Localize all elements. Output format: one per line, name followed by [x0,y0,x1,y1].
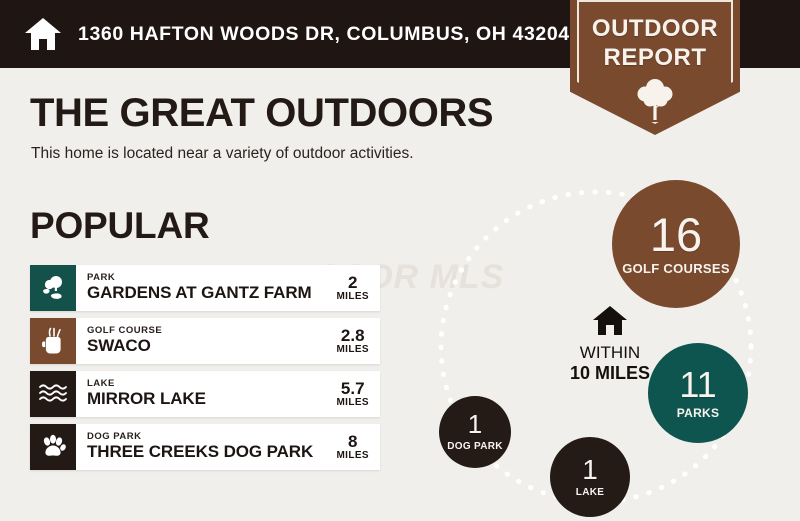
home-icon [24,17,62,51]
tree-icon [635,77,675,121]
list-item-category: DOG PARK [87,432,336,442]
list-item-category: GOLF COURSE [87,326,336,336]
list-item-text: LAKE MIRROR LAKE [76,379,336,409]
list-item-text: DOG PARK THREE CREEKS DOG PARK [76,432,336,462]
list-item-distance-unit: MILES [336,397,369,408]
outdoor-report-badge: OUTDOOR REPORT [570,0,740,135]
stat-circle-lake[interactable]: 1 LAKE [550,437,630,517]
list-item-distance: 5.7 MILES [336,380,380,409]
stat-circle-dog-park[interactable]: 1 DOG PARK [439,396,511,468]
list-item-text: GOLF COURSE SWACO [76,326,336,356]
list-item-name: MIRROR LAKE [87,389,336,409]
park-trees-icon [30,265,76,311]
stat-label: GOLF COURSES [622,262,730,277]
center-line-1: WITHIN [520,343,700,363]
list-item-distance: 8 MILES [336,433,380,462]
list-item[interactable]: DOG PARK THREE CREEKS DOG PARK 8 MILES [30,424,380,470]
list-item-name: GARDENS AT GANTZ FARM [87,283,336,303]
page-subtitle: This home is located near a variety of o… [31,145,414,163]
list-item-category: LAKE [87,379,336,389]
stat-count: 16 [650,211,702,258]
list-item-text: PARK GARDENS AT GANTZ FARM [76,273,336,303]
list-item-name: THREE CREEKS DOG PARK [87,442,336,462]
center-line-2: 10 MILES [520,363,700,385]
list-item-distance-value: 2.8 [336,327,369,345]
page-title: THE GREAT OUTDOORS [30,93,493,133]
within-10-miles-diagram: 16 GOLF COURSES 11 PARKS 1 DOG PARK 1 LA… [420,175,800,521]
stat-label: DOG PARK [447,441,503,453]
list-item-distance-unit: MILES [336,344,369,355]
badge-line-1: OUTDOOR [570,0,740,41]
list-item-distance-unit: MILES [336,450,369,461]
stat-circle-golf-courses[interactable]: 16 GOLF COURSES [612,180,740,308]
list-item-name: SWACO [87,336,336,356]
list-item[interactable]: PARK GARDENS AT GANTZ FARM 2 MILES [30,265,380,311]
stat-count: 1 [468,411,482,437]
lake-waves-icon [30,371,76,417]
stat-count: 1 [582,456,598,484]
home-icon [592,305,628,336]
list-item-distance: 2.8 MILES [336,327,380,356]
badge-line-2: REPORT [570,41,740,70]
list-item[interactable]: LAKE MIRROR LAKE 5.7 MILES [30,371,380,417]
list-item-category: PARK [87,273,336,283]
list-item-distance-value: 8 [336,433,369,451]
paw-print-icon [30,424,76,470]
list-item-distance-value: 2 [336,274,369,292]
popular-places-list: PARK GARDENS AT GANTZ FARM 2 MILES GOLF … [30,265,380,477]
stat-label: LAKE [576,488,604,498]
diagram-center-label: WITHIN 10 MILES [520,305,700,384]
golf-bag-icon [30,318,76,364]
property-address: 1360 HAFTON WOODS DR, COLUMBUS, OH 43204 [78,23,570,46]
list-item[interactable]: GOLF COURSE SWACO 2.8 MILES [30,318,380,364]
stat-label: PARKS [677,407,720,419]
list-item-distance-value: 5.7 [336,380,369,398]
list-item-distance-unit: MILES [336,291,369,302]
list-item-distance: 2 MILES [336,274,380,303]
popular-heading: POPULAR [30,207,210,244]
